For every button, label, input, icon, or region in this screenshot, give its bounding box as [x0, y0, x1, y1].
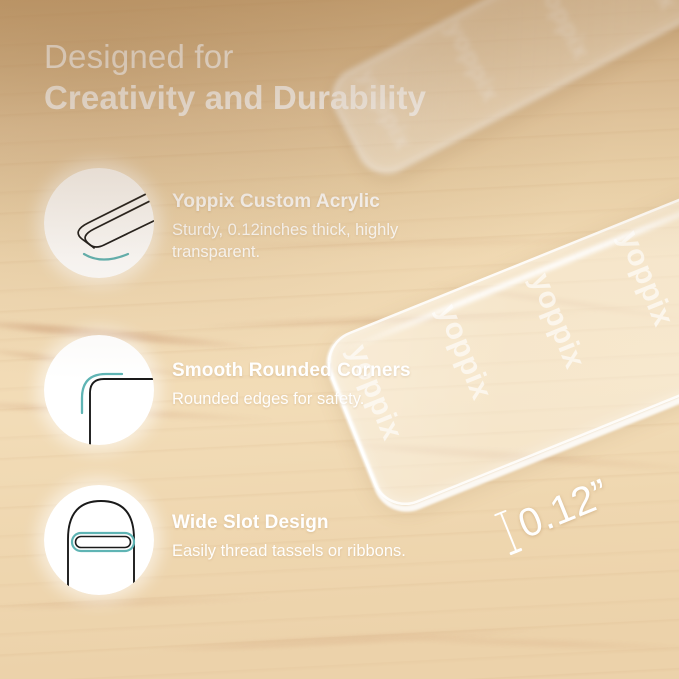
- headline: Designed for Creativity and Durability: [44, 38, 426, 118]
- feature-item-corners: Smooth Rounded Corners Rounded edges for…: [44, 335, 644, 455]
- acrylic-slab-icon: [44, 168, 154, 278]
- brand-watermark: yoppix: [530, 0, 598, 64]
- feature-item-slot: Wide Slot Design Easily thread tassels o…: [44, 485, 644, 605]
- wide-slot-icon: [44, 485, 154, 595]
- feature-title: Smooth Rounded Corners: [172, 359, 411, 383]
- product-feature-image: yoppix yoppix yoppix yoppix yoppix yoppi…: [0, 0, 679, 679]
- brand-watermark: yoppix: [439, 16, 507, 107]
- feature-title: Yoppix Custom Acrylic: [172, 190, 472, 214]
- headline-line-2: Creativity and Durability: [44, 79, 426, 118]
- feature-item-acrylic: Yoppix Custom Acrylic Sturdy, 0.12inches…: [44, 168, 644, 288]
- feature-text-block: Smooth Rounded Corners Rounded edges for…: [172, 335, 411, 411]
- feature-description: Easily thread tassels or ribbons.: [172, 541, 406, 563]
- feature-text-block: Yoppix Custom Acrylic Sturdy, 0.12inches…: [172, 168, 472, 263]
- feature-description: Sturdy, 0.12inches thick, highly transpa…: [172, 220, 472, 264]
- feature-text-block: Wide Slot Design Easily thread tassels o…: [172, 485, 406, 563]
- feature-title: Wide Slot Design: [172, 511, 406, 535]
- headline-line-1: Designed for: [44, 38, 426, 77]
- feature-description: Rounded edges for safety.: [172, 389, 411, 411]
- rounded-corner-icon: [44, 335, 154, 445]
- brand-watermark: yoppix: [617, 0, 679, 15]
